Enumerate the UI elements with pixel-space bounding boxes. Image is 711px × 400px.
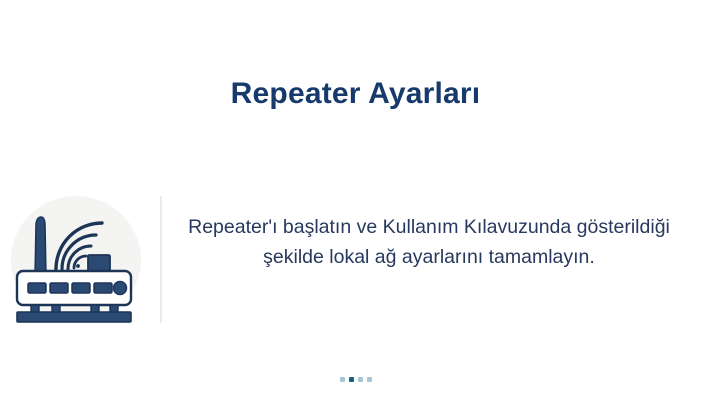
content-row: Repeater'ı başlatın ve Kullanım Kılavuzu…: [0, 190, 711, 330]
pagination-dot-1[interactable]: [340, 377, 345, 382]
instruction-text: Repeater'ı başlatın ve Kullanım Kılavuzu…: [183, 212, 675, 272]
pagination-dot-3[interactable]: [358, 377, 363, 382]
page-title: Repeater Ayarları: [0, 74, 711, 114]
router-illustration: [9, 193, 143, 323]
wifi-router-repeater-icon: [9, 193, 143, 323]
slide-root: Repeater Ayarları: [0, 0, 711, 400]
pagination-dot-2[interactable]: [349, 377, 354, 382]
vertical-divider: [160, 196, 162, 323]
pagination-dot-4[interactable]: [367, 377, 372, 382]
pagination-dots[interactable]: [0, 377, 711, 382]
